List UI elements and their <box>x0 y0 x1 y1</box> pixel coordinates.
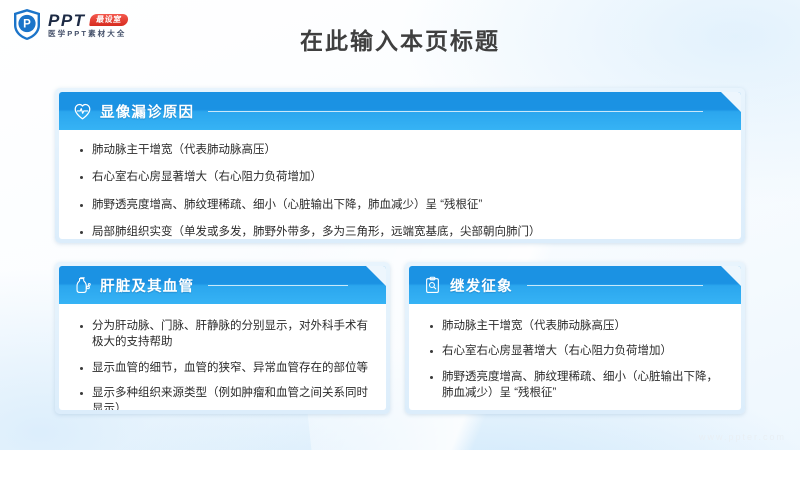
bullet-list: 分为肝动脉、门脉、肝静脉的分别显示，对外科手术有极大的支持帮助 显示血管的细节，… <box>79 318 370 410</box>
header-divider <box>208 285 348 286</box>
panel-title: 肝脏及其血管 <box>100 275 194 296</box>
list-item: 显示多种组织来源类型（例如肿瘤和血管之间关系同时显示） <box>79 385 370 410</box>
list-item: 肺动脉主干增宽（代表肺动脉高压） <box>429 318 725 334</box>
watermark: www.ppter.com <box>699 432 786 442</box>
content-panel-imaging-missed-diagnosis: 显像漏诊原因 肺动脉主干增宽（代表肺动脉高压） 右心室右心房显著增大（右心阻力负… <box>55 88 745 243</box>
corner-triangle-icon <box>366 266 386 286</box>
panel-title: 显像漏诊原因 <box>100 101 194 122</box>
panel-title: 继发征象 <box>450 275 513 296</box>
bullet-list: 肺动脉主干增宽（代表肺动脉高压） 右心室右心房显著增大（右心阻力负荷增加） 肺野… <box>79 142 725 239</box>
list-item: 肺野透亮度增高、肺纹理稀疏、细小（心脏输出下降，肺血减少）呈 “残根征” <box>79 197 725 213</box>
header-divider <box>208 111 703 112</box>
bullet-list: 肺动脉主干增宽（代表肺动脉高压） 右心室右心房显著增大（右心阻力负荷增加） 肺野… <box>429 318 725 410</box>
panel-body: 分为肝动脉、门脉、肝静脉的分别显示，对外科手术有极大的支持帮助 显示血管的细节，… <box>59 304 386 410</box>
list-item: 局部肺组织实变（单发或多发，肺野外带多，多为三角形，远端宽基底，尖部朝向肺门） <box>79 224 725 239</box>
corner-triangle-icon <box>721 92 741 112</box>
panel-body: 肺动脉主干增宽（代表肺动脉高压） 右心室右心房显著增大（右心阻力负荷增加） 肺野… <box>59 130 741 239</box>
panel-header: 显像漏诊原因 <box>59 92 741 130</box>
corner-triangle-icon <box>721 266 741 286</box>
header-divider <box>527 285 703 286</box>
list-item: 显示血管的细节，血管的狭窄、异常血管存在的部位等 <box>79 360 370 376</box>
content-panel-liver-and-vessels: 肝脏及其血管 分为肝动脉、门脉、肝静脉的分别显示，对外科手术有极大的支持帮助 显… <box>55 262 390 414</box>
list-item: 肺动脉主干增宽（代表肺动脉高压） <box>79 142 725 158</box>
heart-pulse-icon <box>73 102 92 121</box>
liver-vessel-icon <box>73 276 92 295</box>
list-item: 右心室右心房显著增大（右心阻力负荷增加） <box>429 343 725 359</box>
panel-body: 肺动脉主干增宽（代表肺动脉高压） 右心室右心房显著增大（右心阻力负荷增加） 肺野… <box>409 304 741 410</box>
list-item: 肺野透亮度增高、肺纹理稀疏、细小（心脏输出下降，肺血减少）呈 “残根征” <box>429 369 725 402</box>
list-item: 分为肝动脉、门脉、肝静脉的分别显示，对外科手术有极大的支持帮助 <box>79 318 370 351</box>
clipboard-search-icon <box>423 276 442 295</box>
page-title: 在此输入本页标题 <box>0 22 800 56</box>
content-panel-secondary-signs: 继发征象 肺动脉主干增宽（代表肺动脉高压） 右心室右心房显著增大（右心阻力负荷增… <box>405 262 745 414</box>
panel-header: 继发征象 <box>409 266 741 304</box>
list-item: 右心室右心房显著增大（右心阻力负荷增加） <box>79 169 725 185</box>
panel-header: 肝脏及其血管 <box>59 266 386 304</box>
